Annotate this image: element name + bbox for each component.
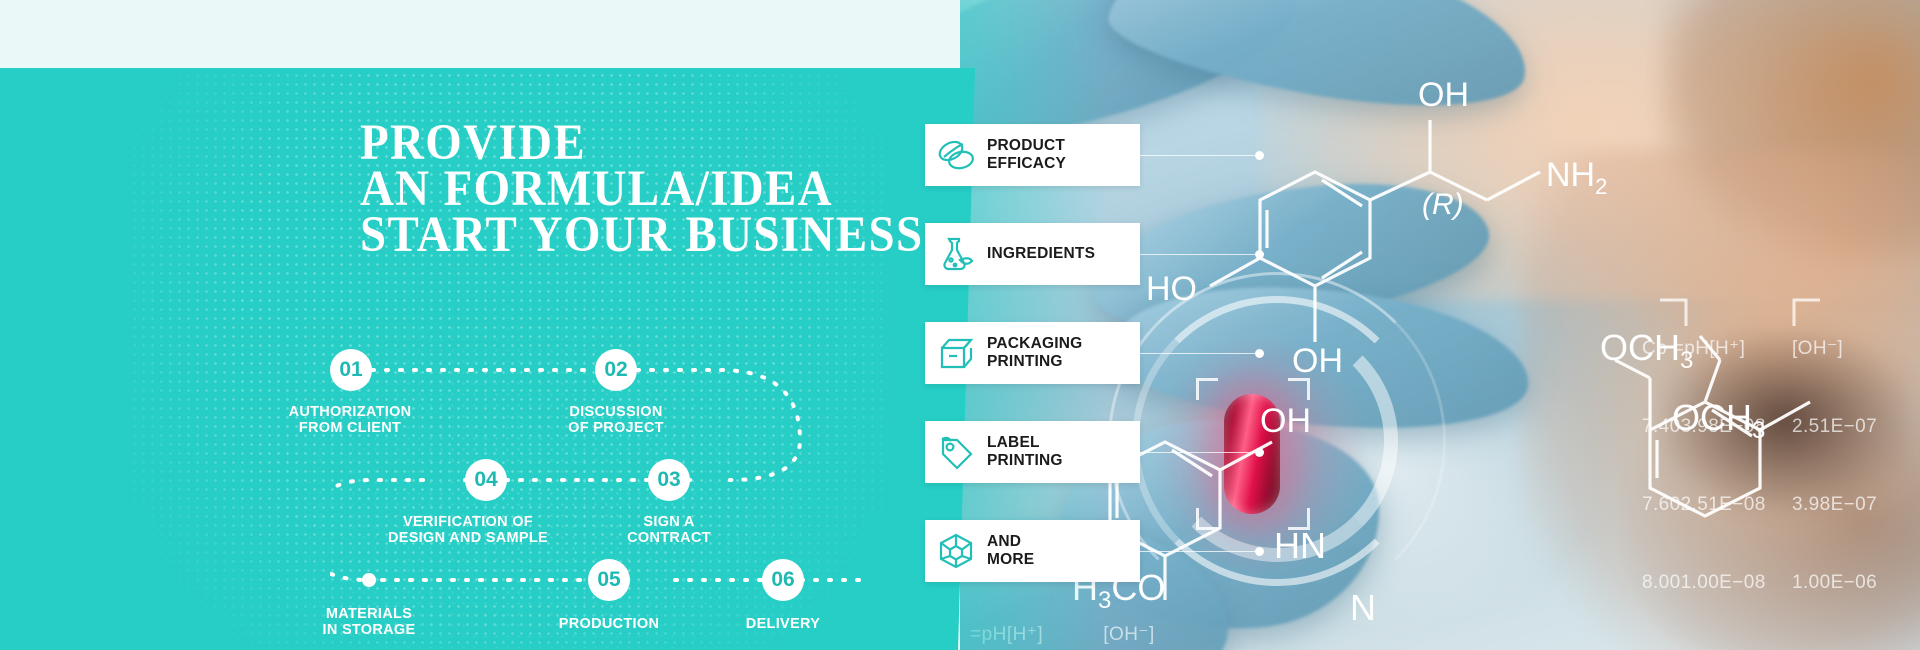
hexagon-cube-icon — [925, 532, 987, 570]
ph-data-table: Cb =pH[H⁺] [OH⁻] 7.403.98E−08 2.51E−07 7… — [1642, 284, 1912, 648]
step-label-materials: MATERIALS IN STORAGE — [289, 606, 449, 638]
price-tag-icon — [925, 434, 987, 470]
headline-line-3: START YOUR BUSINESS — [360, 212, 923, 258]
feature-label: PRODUCT EFFICACY — [987, 137, 1066, 173]
step-node-03[interactable]: 03 — [648, 459, 690, 501]
connector-dot — [1255, 547, 1264, 556]
feature-label: LABEL PRINTING — [987, 434, 1063, 470]
oh-formula-left: [OH⁻] — [1103, 623, 1155, 646]
table-header-cb: Cb =pH[H⁺] — [1642, 336, 1792, 362]
card-connector-line — [1140, 551, 1260, 552]
step-number: 01 — [339, 358, 362, 382]
step-label-01: AUTHORIZATION FROM CLIENT — [270, 404, 430, 436]
headline-line-1: PROVIDE — [360, 120, 923, 166]
feature-card-packaging-printing[interactable]: PACKAGING PRINTING — [925, 322, 1140, 384]
svg-text:N: N — [1350, 587, 1376, 628]
card-connector-line — [1140, 452, 1260, 453]
connector-dot — [1255, 349, 1264, 358]
step-number: 05 — [597, 568, 620, 592]
card-connector-line — [1140, 155, 1260, 156]
pills-icon — [925, 138, 987, 172]
table-row: 7.602.51E−08 3.98E−07 — [1642, 492, 1912, 518]
step-label-03: SIGN A CONTRACT — [589, 514, 749, 546]
page-title: PROVIDE AN FORMULA/IDEA START YOUR BUSIN… — [360, 120, 923, 258]
card-connector-line — [1140, 254, 1260, 255]
focus-reticle-icon — [1196, 378, 1310, 530]
table-cell: 2.51E−07 — [1792, 414, 1912, 440]
step-label-06: DELIVERY — [703, 616, 863, 632]
process-flow-diagram: 01 02 03 04 05 06 AUTHORIZATION FROM CLI… — [330, 330, 870, 630]
connector-dot — [1255, 250, 1264, 259]
step-number: 06 — [771, 568, 794, 592]
headline-line-2: AN FORMULA/IDEA — [360, 166, 923, 212]
feature-label: AND MORE — [987, 533, 1034, 569]
connector-dot — [1255, 448, 1264, 457]
step-number: 04 — [474, 468, 497, 492]
feature-card-list: PRODUCT EFFICACY INGREDIENTS — [925, 124, 1140, 619]
card-connector-line — [1140, 353, 1260, 354]
table-row: 7.403.98E−08 2.51E−07 — [1642, 414, 1912, 440]
table-cell: 1.00E−06 — [1792, 570, 1912, 596]
step-node-materials[interactable] — [362, 573, 376, 587]
flask-leaf-icon — [925, 236, 987, 272]
table-header-row: Cb =pH[H⁺] [OH⁻] — [1642, 336, 1912, 362]
table-cell: 7.602.51E−08 — [1642, 492, 1792, 518]
promotional-banner: OH NH2 (R) HO OH OH HN HO H3CO N OCH3 OC… — [0, 0, 1920, 650]
step-node-06[interactable]: 06 — [762, 559, 804, 601]
feature-card-product-efficacy[interactable]: PRODUCT EFFICACY — [925, 124, 1140, 186]
feature-card-label-printing[interactable]: LABEL PRINTING — [925, 421, 1140, 483]
table-cell: 7.403.98E−08 — [1642, 414, 1792, 440]
step-label-02: DISCUSSION OF PROJECT — [536, 404, 696, 436]
feature-card-ingredients[interactable]: INGREDIENTS — [925, 223, 1140, 285]
feature-label: INGREDIENTS — [987, 245, 1095, 263]
step-label-05: PRODUCTION — [529, 616, 689, 632]
step-node-02[interactable]: 02 — [595, 349, 637, 391]
connector-dot — [1255, 151, 1264, 160]
step-node-01[interactable]: 01 — [330, 349, 372, 391]
open-box-icon — [925, 335, 987, 371]
feature-card-and-more[interactable]: AND MORE — [925, 520, 1140, 582]
step-label-04: VERIFICATION OF DESIGN AND SAMPLE — [378, 514, 558, 546]
table-cell: 8.001.00E−08 — [1642, 570, 1792, 596]
step-number: 03 — [657, 468, 680, 492]
table-header-oh: [OH⁻] — [1792, 336, 1912, 362]
feature-label: PACKAGING PRINTING — [987, 335, 1082, 371]
table-cell: 3.98E−07 — [1792, 492, 1912, 518]
table-row: 8.001.00E−08 1.00E−06 — [1642, 570, 1912, 596]
step-number: 02 — [604, 358, 627, 382]
step-node-05[interactable]: 05 — [588, 559, 630, 601]
step-node-04[interactable]: 04 — [465, 459, 507, 501]
